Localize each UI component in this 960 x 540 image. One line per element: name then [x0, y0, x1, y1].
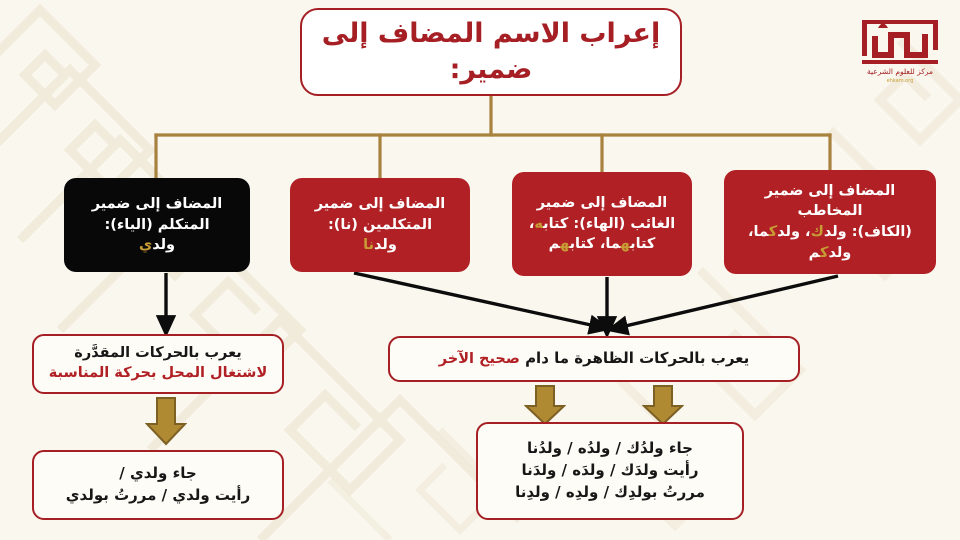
ex-left-line1: جاء ولدي /: [119, 463, 196, 485]
cat4-line2d: ك: [769, 224, 777, 240]
cat1-example: ولد: [152, 237, 175, 253]
ex-left-line2: رأيت ولدي / مررتُ بولدي: [66, 485, 250, 507]
logo-mark: [862, 20, 938, 64]
cat3-line3b: ه: [621, 236, 631, 252]
cat3-line3e: م: [549, 236, 560, 252]
ex-right-line3: مررتُ بولدِك / ولدِه / ولدِنا: [515, 482, 705, 504]
ex-right-line2: رأيت ولدَك / ولدَه / ولدَنا: [521, 460, 698, 482]
cat2-example-pronoun: نا: [363, 237, 374, 253]
diagram-canvas: إعراب الاسم المضاف إلى ضمير: مركز للعلوم…: [0, 0, 960, 540]
cat4-line1: المضاف إلى ضمير المخاطب: [765, 183, 896, 220]
category-box-ghaib[interactable]: المضاف إلى ضمير الغائب (الهاء): كتابه، ك…: [512, 172, 692, 276]
cat3-line1: المضاف إلى ضمير: [537, 195, 668, 211]
cat1-example-pronoun: ي: [139, 237, 152, 253]
category-box-mutakallim[interactable]: المضاف إلى ضمير المتكلم (الياء): ولدي: [64, 178, 250, 272]
cat4-line3a: ولد: [828, 245, 851, 261]
category-box-mukhatab[interactable]: المضاف إلى ضمير المخاطب (الكاف): ولدك، و…: [724, 170, 936, 274]
rule-left-sub: لاشتغال المحل بحركة المناسبة: [49, 364, 267, 384]
cat4-line3c: م: [809, 245, 820, 261]
cat1-line2: المتكلم (الياء):: [104, 217, 209, 233]
cat4-line2e: ما،: [748, 224, 769, 240]
rule-right-main: يعرب بالحركات الظاهرة ما دام: [520, 349, 749, 367]
rule-box-estimated-vowels: يعرب بالحركات المقدَّرة لاشتغال المحل بح…: [32, 334, 284, 394]
rule-right-sub: صحيح الآخر: [439, 351, 520, 367]
page-title: إعراب الاسم المضاف إلى ضمير:: [302, 16, 680, 87]
cat4-line2c: ، ولد: [777, 224, 810, 240]
rule-box-apparent-vowels: يعرب بالحركات الظاهرة ما دام صحيح الآخر: [388, 336, 800, 382]
cat2-line1: المضاف إلى ضمير: [315, 196, 446, 212]
ex-right-line1: جاء ولدُك / ولدُه / ولدُنا: [527, 438, 693, 460]
example-box-right: جاء ولدُك / ولدُه / ولدُنا رأيت ولدَك / …: [476, 422, 744, 520]
logo-subtitle: مركز للعلوم الشرعية: [867, 67, 933, 76]
cat3-line2a: الغائب (الهاء): كتاب: [543, 216, 675, 232]
cat2-example: ولد: [374, 237, 397, 253]
down-block-arrow-right-2: [642, 384, 684, 426]
cat4-line2b: ك: [811, 224, 824, 240]
cat2-line2: المتكلمين (نا):: [328, 217, 432, 233]
rule-left-main: يعرب بالحركات المقدَّرة: [74, 344, 241, 364]
down-block-arrow-right-1: [524, 384, 566, 426]
flow-arrows: [166, 273, 838, 328]
cat1-line1: المضاف إلى ضمير: [92, 196, 223, 212]
brand-logo[interactable]: مركز للعلوم الشرعية ehkam.org: [848, 8, 952, 88]
tree-bracket: [156, 96, 830, 178]
cat3-line2b: ه: [534, 216, 543, 232]
cat3-line3d: ه: [560, 236, 570, 252]
cat4-line2a: (الكاف): ولد: [824, 224, 912, 240]
cat3-line3c: ما، كتاب: [570, 236, 621, 252]
down-block-arrow-left: [145, 396, 187, 446]
cat3-line3a: كتاب: [630, 236, 655, 252]
diagram-title-box: إعراب الاسم المضاف إلى ضمير:: [300, 8, 682, 96]
category-box-mutakallimin[interactable]: المضاف إلى ضمير المتكلمين (نا): ولدنا: [290, 178, 470, 272]
example-box-left: جاء ولدي / رأيت ولدي / مررتُ بولدي: [32, 450, 284, 520]
logo-url: ehkam.org: [887, 78, 914, 84]
